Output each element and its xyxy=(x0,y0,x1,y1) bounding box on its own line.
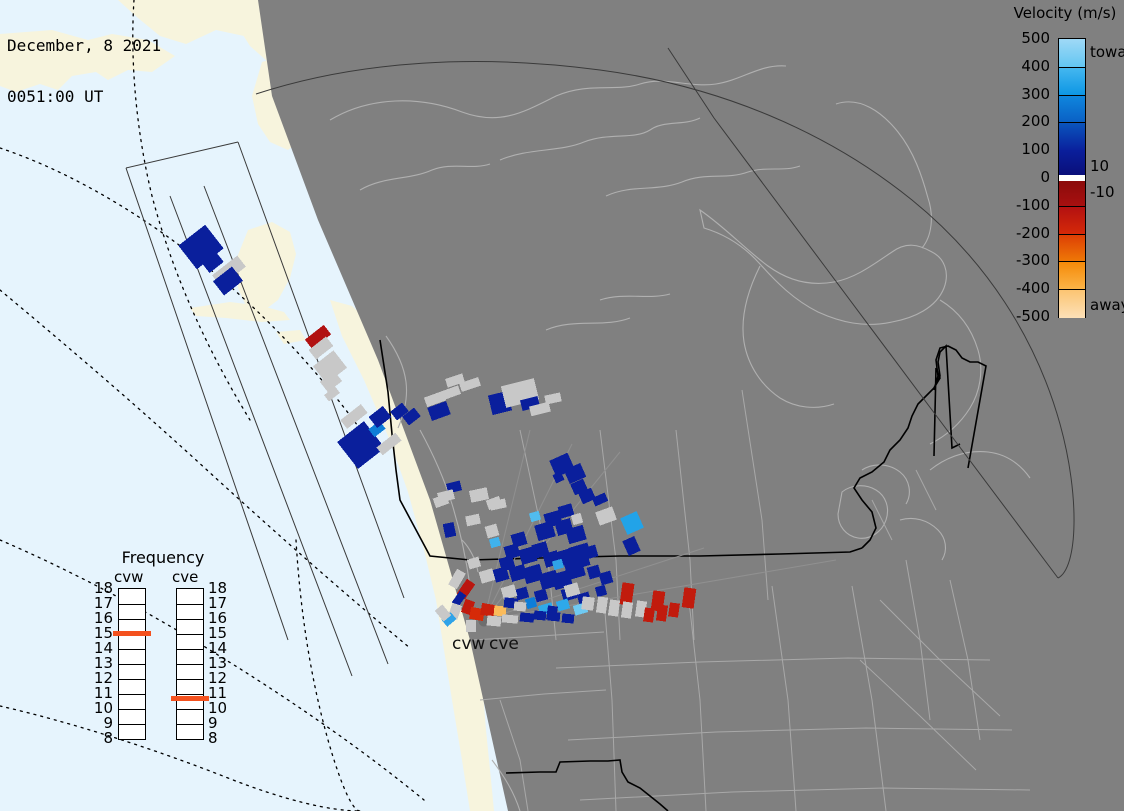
colorbar-positive-threshold-label: 10 xyxy=(1090,157,1109,175)
velocity-cell xyxy=(608,599,620,616)
colorbar-negative-threshold-label: -10 xyxy=(1090,183,1115,201)
velocity-cell xyxy=(587,565,602,580)
colorbar-tick-200: 200 xyxy=(1002,112,1050,130)
velocity-cell xyxy=(596,596,608,613)
velocity-cell xyxy=(487,615,502,626)
velocity-cell xyxy=(480,603,496,617)
velocity-colorbar: Velocity (m/s) 5004003002001000-100-200-… xyxy=(1000,2,1124,332)
frequency-tick-line xyxy=(177,634,203,635)
velocity-cell xyxy=(515,587,530,601)
frequency-legend: Frequency cvw18171615141312111098cve1817… xyxy=(88,548,238,796)
colorbar-segment-9 xyxy=(1059,261,1085,290)
title-time: 0051:00 UT xyxy=(7,88,161,105)
frequency-tick-line xyxy=(177,664,203,665)
frequency-column-header-cve: cve xyxy=(172,568,198,586)
velocity-cell xyxy=(622,536,640,556)
frequency-marker-cve xyxy=(171,696,209,701)
velocity-cell xyxy=(502,614,519,623)
colorbar-tick-400: 400 xyxy=(1002,57,1050,75)
velocity-cell xyxy=(581,596,595,611)
colorbar-segment-0 xyxy=(1059,39,1085,67)
frequency-scale-label-cve-8: 8 xyxy=(208,729,230,747)
frequency-tick-line xyxy=(177,709,203,710)
frequency-tick-line xyxy=(119,649,145,650)
frequency-column-header-cvw: cvw xyxy=(114,568,143,586)
colorbar-tick-neg300: -300 xyxy=(1002,251,1050,269)
velocity-cell xyxy=(534,589,549,603)
velocity-cell xyxy=(442,385,461,399)
colorbar-tick-100: 100 xyxy=(1002,140,1050,158)
colorbar-segment-3 xyxy=(1059,122,1085,151)
colorbar-segment-6 xyxy=(1059,181,1085,206)
colorbar-title: Velocity (m/s) xyxy=(1006,4,1124,22)
colorbar-segment-7 xyxy=(1059,206,1085,235)
colorbar-tick-300: 300 xyxy=(1002,85,1050,103)
velocity-cell xyxy=(489,537,501,548)
velocity-cell xyxy=(443,522,457,538)
velocity-cell xyxy=(525,597,537,609)
velocity-cell xyxy=(469,487,489,502)
velocity-cell xyxy=(595,506,617,525)
radar-map-figure: December, 8 2021 0051:00 UT Velocity (m/… xyxy=(0,0,1124,811)
velocity-cell xyxy=(620,511,644,535)
frequency-tick-line xyxy=(119,694,145,695)
velocity-cell xyxy=(485,524,500,539)
frequency-bar-cve xyxy=(176,588,204,740)
velocity-cell xyxy=(514,601,527,611)
velocity-cell xyxy=(682,587,697,608)
frequency-legend-title: Frequency xyxy=(88,548,238,567)
frequency-tick-line xyxy=(119,679,145,680)
colorbar-tick-0: 0 xyxy=(1002,168,1050,186)
colorbar-tick-neg500: -500 xyxy=(1002,307,1050,325)
velocity-cell xyxy=(465,514,481,527)
velocity-cell xyxy=(592,493,608,507)
colorbar-segment-10 xyxy=(1059,289,1085,318)
frequency-tick-line xyxy=(177,619,203,620)
velocity-cell xyxy=(466,620,476,632)
colorbar-away-label: away xyxy=(1090,296,1124,314)
colorbar-segment-2 xyxy=(1059,95,1085,124)
velocity-cell xyxy=(529,511,541,522)
frequency-tick-line xyxy=(119,664,145,665)
title-date: December, 8 2021 xyxy=(7,37,161,54)
colorbar-tick-neg400: -400 xyxy=(1002,279,1050,297)
velocity-cell xyxy=(501,584,518,599)
frequency-tick-line xyxy=(119,709,145,710)
colorbar-tick-500: 500 xyxy=(1002,29,1050,47)
velocity-cell xyxy=(520,612,535,622)
frequency-tick-line xyxy=(177,604,203,605)
velocity-cell xyxy=(595,585,607,597)
frequency-tick-line xyxy=(119,604,145,605)
frequency-scale-label-cvw-8: 8 xyxy=(91,729,113,747)
colorbar-segment-8 xyxy=(1059,234,1085,263)
colorbar-tick-neg200: -200 xyxy=(1002,224,1050,242)
velocity-cell xyxy=(467,557,481,570)
frequency-tick-line xyxy=(119,724,145,725)
velocity-cell xyxy=(369,406,392,428)
frequency-tick-line xyxy=(177,679,203,680)
frequency-marker-cvw xyxy=(113,631,151,636)
velocity-cell xyxy=(546,605,558,620)
colorbar-segment-4 xyxy=(1059,150,1085,175)
frequency-tick-line xyxy=(177,724,203,725)
frequency-tick-line xyxy=(177,649,203,650)
velocity-cell xyxy=(668,602,680,617)
velocity-cell xyxy=(643,607,655,622)
frequency-tick-line xyxy=(119,619,145,620)
colorbar-toward-label: toward xyxy=(1090,43,1124,61)
velocity-cell xyxy=(534,610,547,620)
colorbar-tick-neg100: -100 xyxy=(1002,196,1050,214)
radar-site-label-cve: cve xyxy=(489,634,519,654)
radar-site-label-cvw: cvw xyxy=(452,634,485,654)
velocity-cell xyxy=(599,571,614,586)
colorbar-segment-1 xyxy=(1059,67,1085,96)
velocity-cell xyxy=(562,613,575,623)
timestamp-block: December, 8 2021 0051:00 UT xyxy=(7,3,161,139)
frequency-bar-cvw xyxy=(118,588,146,740)
colorbar-gradient-strip xyxy=(1058,38,1086,318)
velocity-cell xyxy=(544,392,562,404)
